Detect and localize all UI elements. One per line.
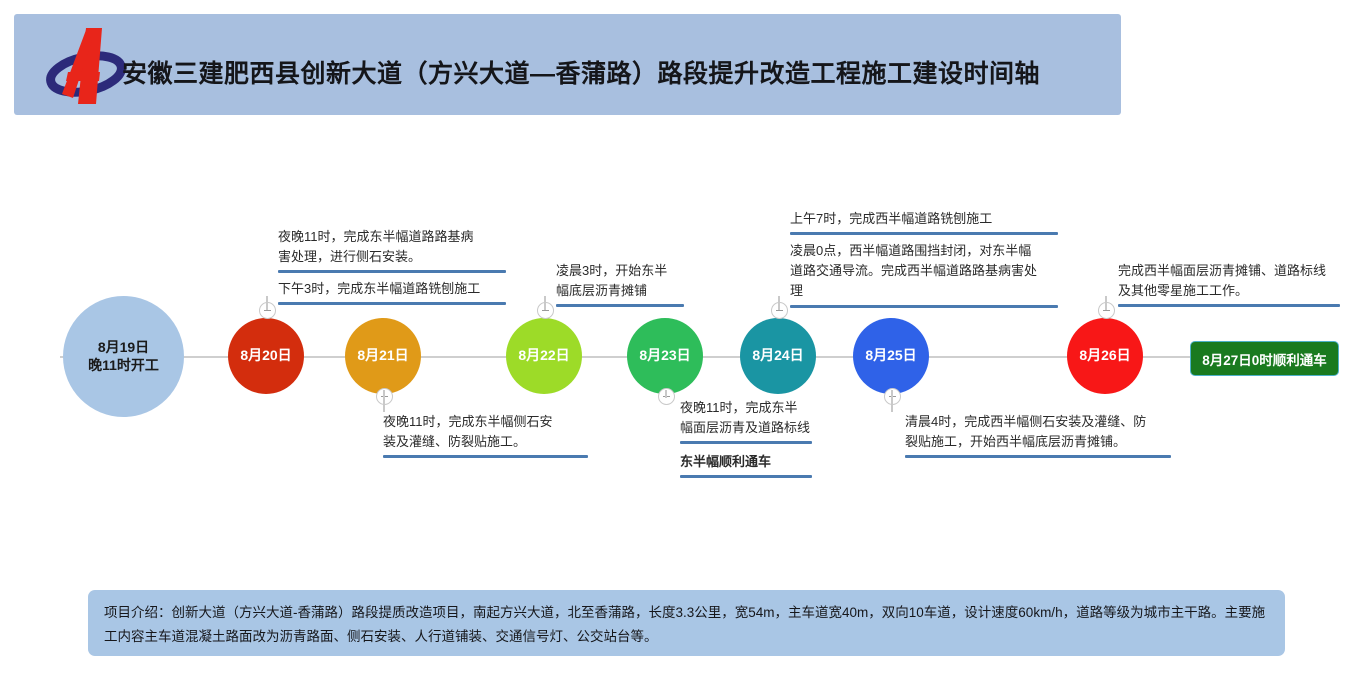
start-node-label-line2: 晚11时开工 xyxy=(88,357,159,375)
callout-rule xyxy=(278,302,506,305)
callout-text: 夜晚11时，完成东半幅侧石安 装及灌缝、防裂贴施工。 xyxy=(383,412,588,452)
node-label: 8月26日 xyxy=(1079,347,1130,365)
callout-text: 上午7时，完成西半幅道路铣刨施工 xyxy=(790,209,1058,229)
callout-text: 清晨4时，完成西半幅侧石安装及灌缝、防 裂贴施工，开始西半幅底层沥青摊铺。 xyxy=(905,412,1171,452)
node-label: 8月22日 xyxy=(518,347,569,365)
callout-0826: 完成西半幅面层沥青摊铺、道路标线 及其他零星施工工作。 xyxy=(1118,261,1340,307)
callout-0823: 夜晚11时，完成东半 幅面层沥青及道路标线 东半幅顺利通车 xyxy=(680,398,812,478)
callout-text-highlight: 东半幅顺利通车 xyxy=(680,452,812,472)
header-banner: 安徽三建肥西县创新大道（方兴大道—香蒲路）路段提升改造工程施工建设时间轴 xyxy=(14,14,1121,115)
callout-stem-0824 xyxy=(778,296,780,310)
callout-stem-0821 xyxy=(383,390,385,412)
callout-stem-0826 xyxy=(1105,296,1107,310)
project-description-text: 项目介绍：创新大道（方兴大道-香蒲路）路段提质改造项目，南起方兴大道，北至香蒲路… xyxy=(104,601,1270,648)
page-title: 安徽三建肥西县创新大道（方兴大道—香蒲路）路段提升改造工程施工建设时间轴 xyxy=(122,54,1040,90)
callout-rule xyxy=(278,270,506,273)
callout-stem-0825 xyxy=(891,390,893,412)
timeline-node-0821[interactable]: 8月21日 xyxy=(345,318,421,394)
callout-stem-0822 xyxy=(544,296,546,310)
timeline-node-0820[interactable]: 8月20日 xyxy=(228,318,304,394)
callout-text: 凌晨3时，开始东半 幅底层沥青摊铺 xyxy=(556,261,684,301)
node-label: 8月24日 xyxy=(752,347,803,365)
callout-0821: 夜晚11时，完成东半幅侧石安 装及灌缝、防裂贴施工。 xyxy=(383,412,588,458)
timeline-node-start[interactable]: 8月19日 晚11时开工 xyxy=(63,296,184,417)
timeline-node-0824[interactable]: 8月24日 xyxy=(740,318,816,394)
callout-text: 夜晚11时，完成东半幅道路路基病 害处理，进行侧石安装。 xyxy=(278,227,506,267)
callout-rule xyxy=(790,305,1058,308)
node-label: 8月20日 xyxy=(240,347,291,365)
callout-0825: 清晨4时，完成西半幅侧石安装及灌缝、防 裂贴施工，开始西半幅底层沥青摊铺。 xyxy=(905,412,1171,458)
start-node-label-line1: 8月19日 xyxy=(88,339,159,357)
node-label: 8月23日 xyxy=(639,347,690,365)
callout-rule xyxy=(790,232,1058,235)
callout-text: 夜晚11时，完成东半 幅面层沥青及道路标线 xyxy=(680,398,812,438)
node-label: 8月21日 xyxy=(357,347,408,365)
callout-rule xyxy=(905,455,1171,458)
callout-rule xyxy=(383,455,588,458)
callout-0820: 夜晚11时，完成东半幅道路路基病 害处理，进行侧石安装。 下午3时，完成东半幅道… xyxy=(278,227,506,305)
callout-stem-0823 xyxy=(665,390,667,398)
callout-rule xyxy=(680,475,812,478)
callout-rule xyxy=(556,304,684,307)
anhui-sanjian-logo xyxy=(42,24,128,108)
callout-0824: 上午7时，完成西半幅道路铣刨施工 凌晨0点，西半幅道路围挡封闭，对东半幅 道路交… xyxy=(790,209,1058,308)
infographic-canvas: 安徽三建肥西县创新大道（方兴大道—香蒲路）路段提升改造工程施工建设时间轴 8月1… xyxy=(0,0,1365,678)
timeline-node-0823[interactable]: 8月23日 xyxy=(627,318,703,394)
timeline-node-0822[interactable]: 8月22日 xyxy=(506,318,582,394)
callout-stem-0820 xyxy=(266,296,268,310)
callout-text: 完成西半幅面层沥青摊铺、道路标线 及其他零星施工工作。 xyxy=(1118,261,1340,301)
callout-rule xyxy=(1118,304,1340,307)
callout-text: 下午3时，完成东半幅道路铣刨施工 xyxy=(278,279,506,299)
project-description-panel: 项目介绍：创新大道（方兴大道-香蒲路）路段提质改造项目，南起方兴大道，北至香蒲路… xyxy=(88,590,1285,656)
timeline-node-end[interactable]: 8月27日0时顺利通车 xyxy=(1190,341,1339,376)
timeline-node-0826[interactable]: 8月26日 xyxy=(1067,318,1143,394)
end-node-label: 8月27日0时顺利通车 xyxy=(1202,349,1327,369)
callout-rule xyxy=(680,441,812,444)
node-label: 8月25日 xyxy=(865,347,916,365)
timeline-node-0825[interactable]: 8月25日 xyxy=(853,318,929,394)
callout-text: 凌晨0点，西半幅道路围挡封闭，对东半幅 道路交通导流。完成西半幅道路路基病害处 … xyxy=(790,241,1058,301)
callout-0822: 凌晨3时，开始东半 幅底层沥青摊铺 xyxy=(556,261,684,307)
